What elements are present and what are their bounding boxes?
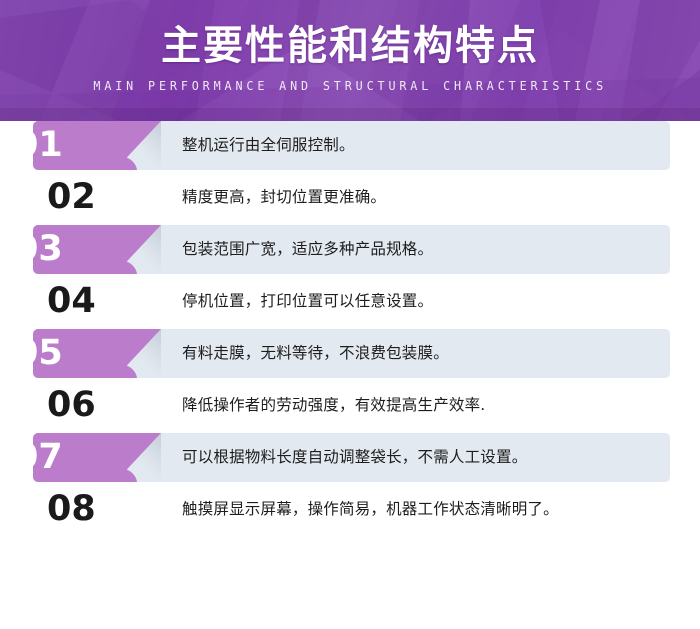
feature-number: 08 (33, 485, 133, 534)
feature-number: 06 (33, 381, 133, 430)
feature-number: 07 (0, 433, 100, 482)
page-header: 主要性能和结构特点 MAIN PERFORMANCE AND STRUCTURA… (0, 0, 700, 121)
feature-row: 07 可以根据物料长度自动调整袋长，不需人工设置。 (0, 433, 700, 482)
feature-text: 停机位置，打印位置可以任意设置。 (182, 277, 670, 326)
feature-row: 06 降低操作者的劳动强度，有效提高生产效率. (0, 381, 700, 430)
feature-row: 02 精度更高，封切位置更准确。 (0, 173, 700, 222)
feature-row: 03 包装范围广宽，适应多种产品规格。 (0, 225, 700, 274)
feature-text: 有料走膜，无料等待，不浪费包装膜。 (182, 329, 670, 378)
page-root: 主要性能和结构特点 MAIN PERFORMANCE AND STRUCTURA… (0, 0, 700, 629)
feature-row: 05 有料走膜，无料等待，不浪费包装膜。 (0, 329, 700, 378)
feature-text: 包装范围广宽，适应多种产品规格。 (182, 225, 670, 274)
feature-text: 触摸屏显示屏幕，操作简易，机器工作状态清晰明了。 (182, 485, 670, 534)
feature-text: 精度更高，封切位置更准确。 (182, 173, 670, 222)
feature-number: 01 (0, 121, 100, 170)
feature-row: 01 整机运行由全伺服控制。 (0, 121, 700, 170)
feature-text: 整机运行由全伺服控制。 (182, 121, 670, 170)
feature-number: 02 (33, 173, 133, 222)
feature-text: 可以根据物料长度自动调整袋长，不需人工设置。 (182, 433, 670, 482)
feature-text: 降低操作者的劳动强度，有效提高生产效率. (182, 381, 670, 430)
feature-row: 04 停机位置，打印位置可以任意设置。 (0, 277, 700, 326)
feature-number: 03 (0, 225, 100, 274)
feature-row: 08 触摸屏显示屏幕，操作简易，机器工作状态清晰明了。 (0, 485, 700, 534)
feature-number: 05 (0, 329, 100, 378)
page-subtitle: MAIN PERFORMANCE AND STRUCTURAL CHARACTE… (93, 78, 607, 94)
page-title: 主要性能和结构特点 (161, 23, 539, 69)
feature-number: 04 (33, 277, 133, 326)
header-text-block: 主要性能和结构特点 MAIN PERFORMANCE AND STRUCTURA… (0, 0, 700, 121)
feature-list: 01 整机运行由全伺服控制。 02 精度更高，封切位置更准确。 03 包装范围广… (0, 121, 700, 537)
